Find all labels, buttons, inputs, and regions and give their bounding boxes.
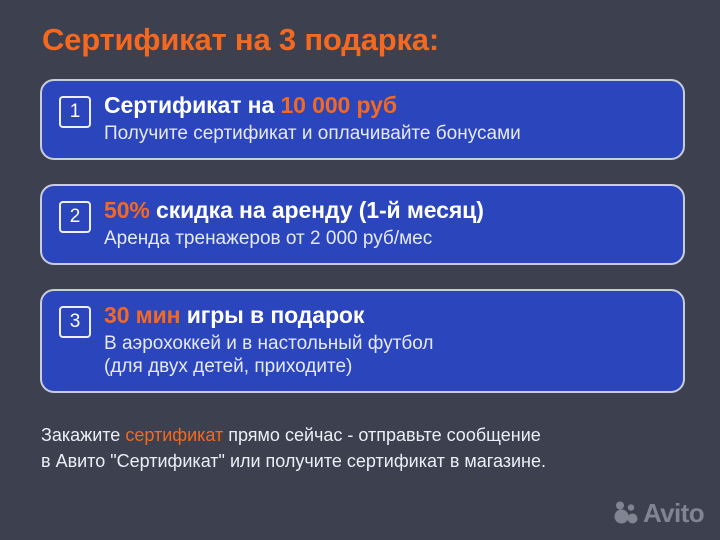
offer-headline: 50% скидка на аренду (1-й месяц) [104, 198, 667, 224]
offer-card-body: 50% скидка на аренду (1-й месяц) Аренда … [104, 198, 667, 250]
offer-card: 1 Сертификат на 10 000 руб Получите серт… [40, 79, 685, 160]
avito-logo-text: Avito [643, 500, 704, 526]
offer-headline: Сертификат на 10 000 руб [104, 93, 667, 119]
promo-poster: Сертификат на 3 подарка: 1 Сертификат на… [0, 0, 720, 540]
offer-card-list: 1 Сертификат на 10 000 руб Получите серт… [40, 79, 685, 393]
footer-highlight: сертификат [125, 425, 223, 445]
footer-text-before: Закажите [41, 425, 125, 445]
offer-number-badge: 3 [59, 306, 91, 338]
offer-card: 3 30 мин игры в подарок В аэрохоккей и в… [40, 289, 685, 393]
offer-headline-highlight: 30 мин [104, 302, 180, 328]
offer-headline-text-before: Сертификат на [104, 92, 280, 118]
avito-dots-icon [614, 501, 640, 525]
offer-headline-highlight: 50% [104, 197, 150, 223]
offer-number-badge: 2 [59, 201, 91, 233]
footer-text-after: прямо сейчас - отправьте сообщение [223, 425, 541, 445]
offer-number-badge: 1 [59, 96, 91, 128]
offer-card: 2 50% скидка на аренду (1-й месяц) Аренд… [40, 184, 685, 265]
offer-subtext-line: Аренда тренажеров от 2 000 руб/мес [104, 227, 667, 250]
offer-subtext-line: В аэрохоккей и в настольный футбол [104, 332, 667, 355]
offer-card-body: 30 мин игры в подарок В аэрохоккей и в н… [104, 303, 667, 378]
page-title: Сертификат на 3 подарка: [42, 22, 439, 58]
offer-subtext-line: Получите сертификат и оплачивайте бонуса… [104, 122, 667, 145]
offer-headline-text-after: скидка на аренду (1-й месяц) [150, 197, 484, 223]
offer-headline: 30 мин игры в подарок [104, 303, 667, 329]
offer-headline-text-after: игры в подарок [180, 302, 364, 328]
footer-note: Закажите сертификат прямо сейчас - отпра… [41, 423, 696, 474]
offer-card-body: Сертификат на 10 000 руб Получите сертиф… [104, 93, 667, 145]
avito-logo: Avito [614, 500, 704, 526]
footer-text-line2: в Авито "Сертификат" или получите сертиф… [41, 451, 546, 471]
offer-subtext-line: (для двух детей, приходите) [104, 355, 667, 378]
offer-headline-highlight: 10 000 руб [280, 92, 396, 118]
